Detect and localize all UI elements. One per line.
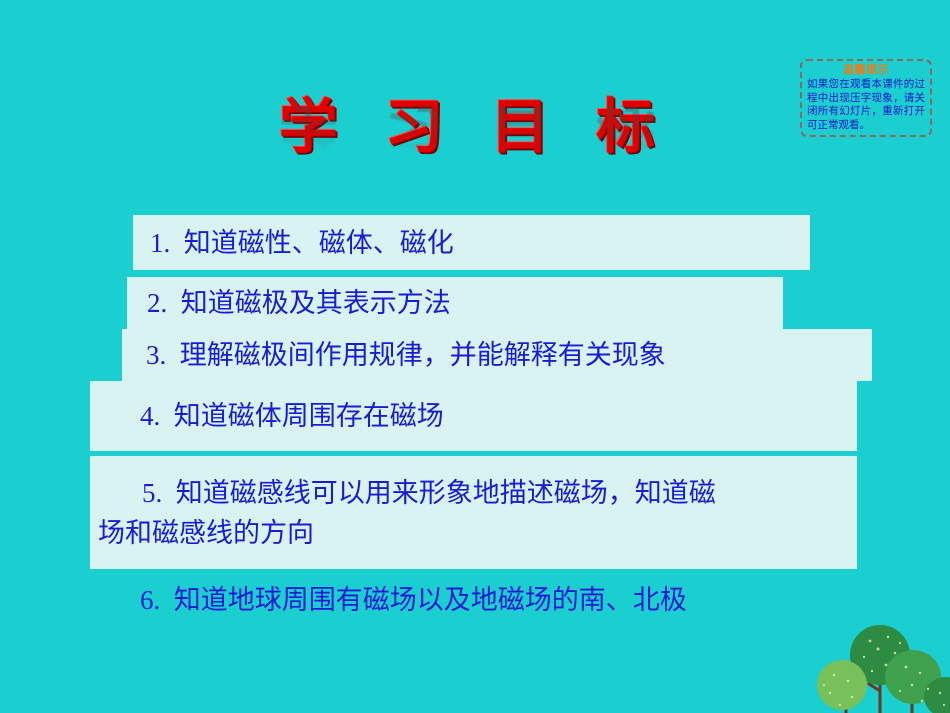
objective-row-6: 6. 知道地球周围有磁场以及地磁场的南、北极 [90,575,890,625]
tip-box-heading: 温馨提示 [807,64,925,77]
objective-text-5-line-1: 5. 知道磁感线可以用来形象地描述磁场，知道磁 [90,473,857,513]
tip-box-body: 如果您在观看本课件的过程中出现压字现象，请关闭所有幻灯片，重新打开可正常观看。 [807,78,925,132]
objective-band-2: 2. 知道磁极及其表示方法 [127,277,783,329]
objective-band-4: 4. 知道磁体周围存在磁场 [90,381,857,451]
objective-band-3: 3. 理解磁极间作用规律，并能解释有关现象 [122,329,872,381]
objective-band-5: 5. 知道磁感线可以用来形象地描述磁场，知道磁 场和磁感线的方向 [90,456,857,569]
objective-band-1: 1. 知道磁性、磁体、磁化 [133,215,810,270]
tip-box: 温馨提示 如果您在观看本课件的过程中出现压字现象，请关闭所有幻灯片，重新打开可正… [800,59,932,137]
objective-text-5-line-2: 场和磁感线的方向 [90,513,857,553]
slide-canvas: 温馨提示 如果您在观看本课件的过程中出现压字现象，请关闭所有幻灯片，重新打开可正… [0,0,950,713]
objective-text-3: 3. 理解磁极间作用规律，并能解释有关现象 [122,335,872,375]
objective-text-2: 2. 知道磁极及其表示方法 [127,283,783,323]
objective-text-6: 6. 知道地球周围有磁场以及地磁场的南、北极 [90,580,687,620]
trees-decoration-icon [800,623,950,713]
objective-text-4: 4. 知道磁体周围存在磁场 [90,396,857,436]
objective-text-1: 1. 知道磁性、磁体、磁化 [133,223,810,263]
